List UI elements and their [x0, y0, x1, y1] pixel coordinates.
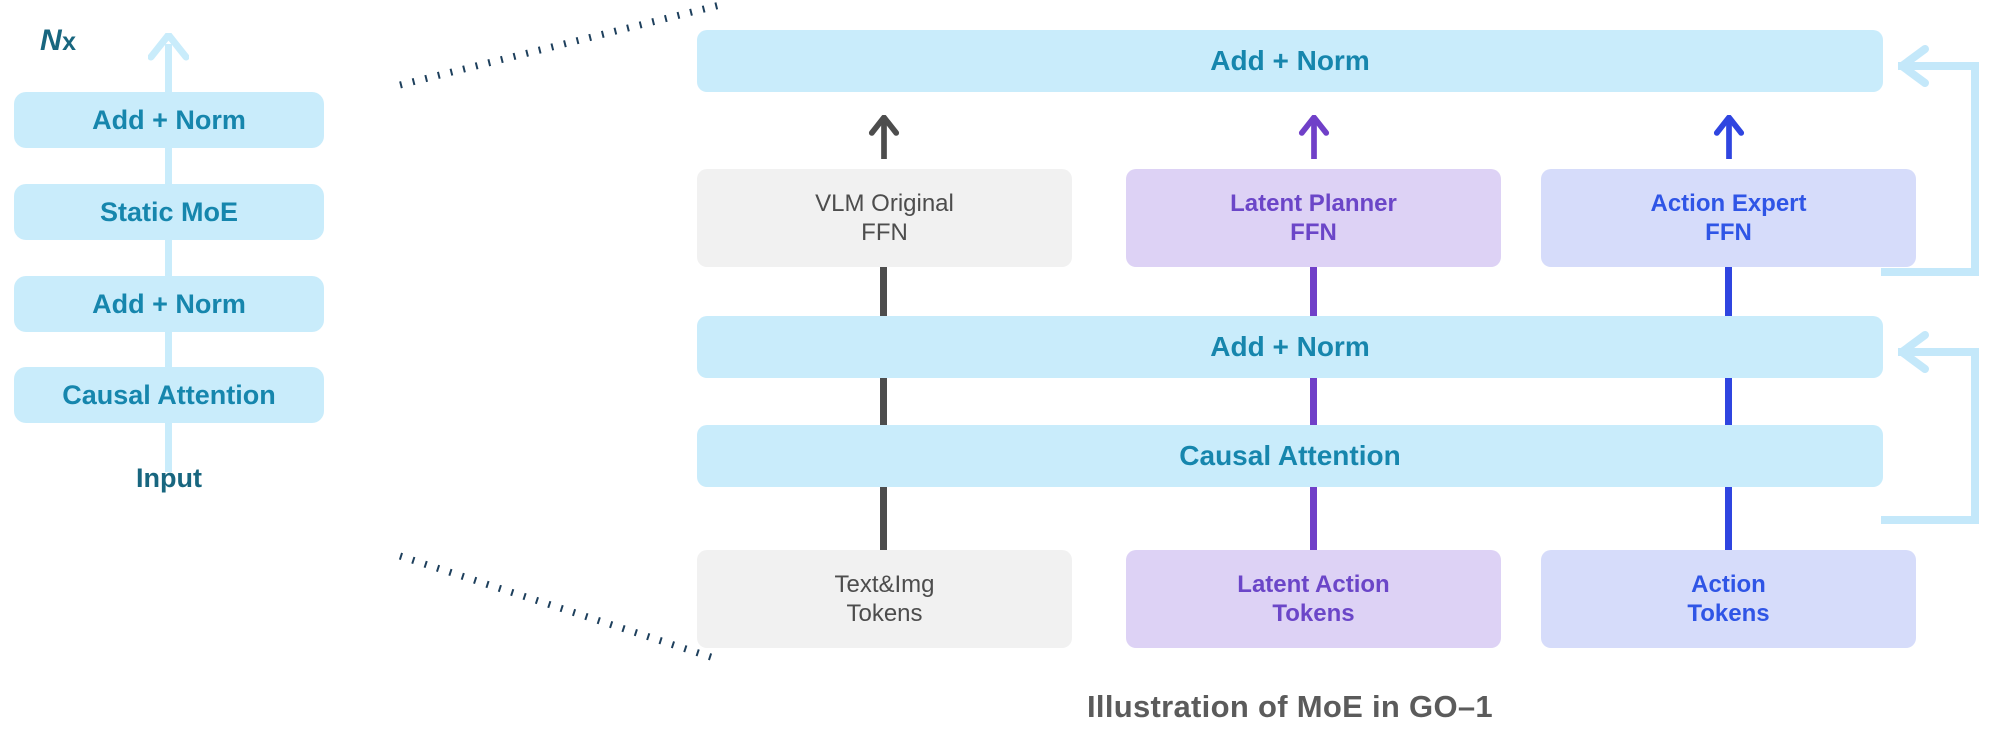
left-block-static-moe: Static MoE: [14, 184, 324, 240]
figure-caption: Illustration of MoE in GO–1: [697, 689, 1883, 725]
dotted-connector-bottom: [395, 548, 735, 668]
right-causal-attention: Causal Attention: [697, 425, 1883, 487]
line-add-norm-to-latent-ffn: [1310, 267, 1317, 317]
ffn-block-latent-planner: Latent Planner FFN: [1126, 169, 1501, 267]
figure-canvas: Nx Add + Norm Static MoE Add + Norm Caus…: [0, 0, 2014, 748]
left-flow-line-2: [165, 145, 172, 187]
residual-connection-lower: [1880, 330, 2014, 530]
line-text-img-tokens-to-attention: [880, 487, 887, 551]
line-add-norm-to-action-ffn: [1725, 267, 1732, 317]
left-block-add-norm-1: Add + Norm: [14, 276, 324, 332]
line-attention-to-add-norm-action: [1725, 378, 1732, 426]
token-block-latent-action: Latent Action Tokens: [1126, 550, 1501, 648]
left-block-add-norm-2: Add + Norm: [14, 92, 324, 148]
right-add-norm-mid: Add + Norm: [697, 316, 1883, 378]
dotted-connector-top: [395, 0, 735, 90]
repeat-count-label: Nx: [40, 24, 77, 58]
ffn-block-vlm-original: VLM Original FFN: [697, 169, 1072, 267]
line-add-norm-to-vlm-ffn: [880, 267, 887, 317]
arrow-action-expert-ffn-to-add-norm-icon: [1711, 115, 1747, 159]
line-attention-to-add-norm-latent: [1310, 378, 1317, 426]
left-block-causal-attention: Causal Attention: [14, 367, 324, 423]
arrow-vlm-ffn-to-add-norm-icon: [866, 115, 902, 159]
repeat-count-x: x: [62, 28, 76, 56]
ffn-block-action-expert: Action Expert FFN: [1541, 169, 1916, 267]
left-flow-line-4: [165, 328, 172, 370]
right-add-norm-top: Add + Norm: [697, 30, 1883, 92]
left-flow-line-3: [165, 237, 172, 279]
left-flow-line-top: [165, 44, 172, 96]
repeat-count-n: N: [40, 24, 62, 57]
line-attention-to-add-norm-vlm: [880, 378, 887, 426]
token-block-action: Action Tokens: [1541, 550, 1916, 648]
line-action-tokens-to-attention: [1725, 487, 1732, 551]
token-block-text-img: Text&Img Tokens: [697, 550, 1072, 648]
line-latent-action-tokens-to-attention: [1310, 487, 1317, 551]
input-label: Input: [14, 463, 324, 494]
arrow-latent-planner-ffn-to-add-norm-icon: [1296, 115, 1332, 159]
